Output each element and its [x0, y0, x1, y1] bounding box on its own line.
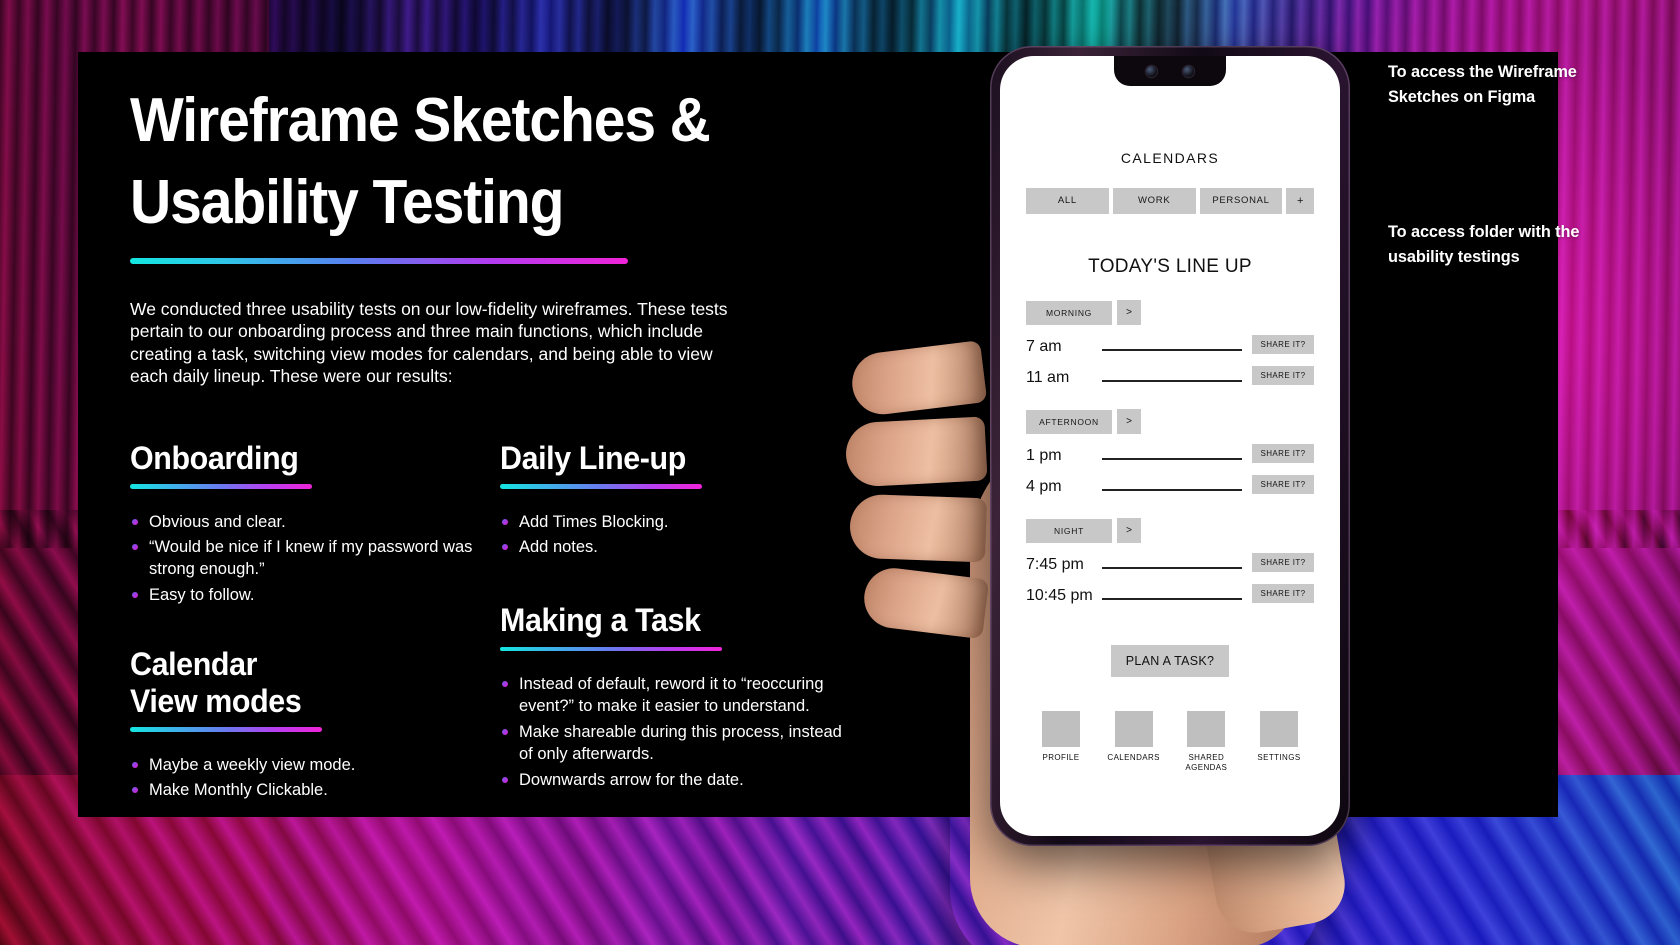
time-slot-row: 11 am SHARE IT? [1026, 366, 1314, 387]
nav-item-calendars[interactable]: CALENDARS [1105, 711, 1163, 773]
nav-label: PROFILE [1032, 753, 1090, 763]
time-slot-row: 7 am SHARE IT? [1026, 335, 1314, 356]
slot-input-line[interactable] [1102, 489, 1242, 491]
calendar-bullet-list: Maybe a weekly view mode. Make Monthly C… [130, 754, 500, 802]
calendar-gradient-rule [130, 727, 322, 732]
onboarding-gradient-rule [130, 484, 312, 489]
section-heading-calendar-line-1: Calendar [130, 646, 482, 683]
share-it-button[interactable]: SHARE IT? [1252, 366, 1314, 385]
bottom-navigation: PROFILE CALENDARS SHARED AGENDAS SETTING… [1026, 711, 1314, 773]
list-item: Add notes. [500, 536, 860, 558]
slot-input-line[interactable] [1102, 349, 1242, 351]
add-calendar-button[interactable]: + [1286, 188, 1314, 214]
slide-content: Wireframe Sketches & Usability Testing W… [130, 80, 890, 805]
right-column: Daily Line-up Add Times Blocking. Add no… [500, 440, 860, 805]
phone-notch [1114, 56, 1226, 86]
tab-work[interactable]: WORK [1113, 188, 1196, 214]
todays-lineup-heading: TODAY'S LINE UP [1026, 256, 1314, 278]
daily-lineup-bullet-list: Add Times Blocking. Add notes. [500, 511, 860, 559]
slot-input-line[interactable] [1102, 458, 1242, 460]
making-a-task-section: Making a Task Instead of default, reword… [500, 602, 860, 791]
nav-label: SHARED AGENDAS [1177, 753, 1235, 773]
phone-screen: CALENDARS ALL WORK PERSONAL + TODAY'S LI… [1000, 56, 1340, 836]
nav-item-shared-agendas[interactable]: SHARED AGENDAS [1177, 711, 1235, 773]
list-item: Obvious and clear. [130, 511, 500, 533]
calendar-tab-row: ALL WORK PERSONAL + [1026, 188, 1314, 214]
time-block-night: NIGHT > 7:45 pm SHARE IT? 10:45 pm SHARE… [1026, 518, 1314, 605]
tab-all[interactable]: ALL [1026, 188, 1109, 214]
making-a-task-bullet-list: Instead of default, reword it to “reoccu… [500, 673, 860, 791]
page-title-line-1: Wireframe Sketches & [130, 80, 829, 162]
time-block-morning: MORNING > 7 am SHARE IT? 11 am SHARE IT? [1026, 300, 1314, 387]
front-camera-icon [1146, 66, 1157, 77]
share-it-button[interactable]: SHARE IT? [1252, 553, 1314, 572]
title-gradient-rule [130, 258, 628, 264]
list-item: Easy to follow. [130, 584, 500, 606]
profile-icon [1042, 711, 1080, 747]
slot-time-label: 1 pm [1026, 447, 1102, 465]
slot-time-label: 7:45 pm [1026, 556, 1102, 574]
settings-icon [1260, 711, 1298, 747]
annotation-figma-link[interactable]: To access the Wireframe Sketches on Figm… [1388, 60, 1628, 109]
slot-input-line[interactable] [1102, 380, 1242, 382]
list-item: “Would be nice if I knew if my password … [130, 536, 500, 581]
morning-header-row: MORNING > [1026, 300, 1314, 325]
time-slot-row: 7:45 pm SHARE IT? [1026, 553, 1314, 574]
slot-time-label: 10:45 pm [1026, 587, 1102, 605]
list-item: Instead of default, reword it to “reoccu… [500, 673, 860, 718]
page-title: Wireframe Sketches & Usability Testing [130, 80, 890, 244]
slot-input-line[interactable] [1102, 567, 1242, 569]
calendars-icon [1115, 711, 1153, 747]
time-slot-row: 10:45 pm SHARE IT? [1026, 584, 1314, 605]
share-it-button[interactable]: SHARE IT? [1252, 475, 1314, 494]
share-it-button[interactable]: SHARE IT? [1252, 335, 1314, 354]
block-label-morning[interactable]: MORNING [1026, 301, 1112, 325]
nav-label: CALENDARS [1105, 753, 1163, 763]
section-heading-making-a-task: Making a Task [500, 602, 842, 639]
chevron-right-icon-afternoon[interactable]: > [1117, 409, 1141, 434]
list-item: Make shareable during this process, inst… [500, 721, 860, 766]
slot-time-label: 4 pm [1026, 478, 1102, 496]
section-heading-daily-lineup: Daily Line-up [500, 440, 842, 477]
block-label-afternoon[interactable]: AFTERNOON [1026, 410, 1112, 434]
section-heading-onboarding: Onboarding [130, 440, 482, 477]
share-it-button[interactable]: SHARE IT? [1252, 584, 1314, 603]
left-column: Onboarding Obvious and clear. “Would be … [130, 440, 500, 805]
onboarding-bullet-list: Obvious and clear. “Would be nice if I k… [130, 511, 500, 607]
afternoon-header-row: AFTERNOON > [1026, 409, 1314, 434]
section-heading-calendar-line-2: View modes [130, 683, 482, 720]
daily-lineup-gradient-rule [500, 484, 702, 489]
plan-a-task-button[interactable]: PLAN A TASK? [1111, 645, 1229, 677]
sections-columns: Onboarding Obvious and clear. “Would be … [130, 440, 890, 805]
page-title-line-2: Usability Testing [130, 162, 829, 244]
time-slot-row: 1 pm SHARE IT? [1026, 444, 1314, 465]
nav-label: SETTINGS [1250, 753, 1308, 763]
nav-item-settings[interactable]: SETTINGS [1250, 711, 1308, 773]
time-slot-row: 4 pm SHARE IT? [1026, 475, 1314, 496]
block-label-night[interactable]: NIGHT [1026, 519, 1112, 543]
time-block-afternoon: AFTERNOON > 1 pm SHARE IT? 4 pm SHARE IT… [1026, 409, 1314, 496]
intro-paragraph: We conducted three usability tests on ou… [130, 298, 750, 388]
slot-input-line[interactable] [1102, 598, 1242, 600]
app-ui: CALENDARS ALL WORK PERSONAL + TODAY'S LI… [1000, 56, 1340, 836]
list-item: Maybe a weekly view mode. [130, 754, 500, 776]
calendars-heading: CALENDARS [1026, 150, 1314, 166]
making-a-task-gradient-rule [500, 647, 722, 652]
nav-item-profile[interactable]: PROFILE [1032, 711, 1090, 773]
list-item: Downwards arrow for the date. [500, 769, 860, 791]
chevron-right-icon-morning[interactable]: > [1117, 300, 1141, 325]
slot-time-label: 7 am [1026, 338, 1102, 356]
shared-agendas-icon [1187, 711, 1225, 747]
night-header-row: NIGHT > [1026, 518, 1314, 543]
share-it-button[interactable]: SHARE IT? [1252, 444, 1314, 463]
calendar-section: Calendar View modes Maybe a weekly view … [130, 646, 500, 802]
list-item: Make Monthly Clickable. [130, 779, 500, 801]
depth-sensor-icon [1183, 66, 1194, 77]
annotation-folder-link[interactable]: To access folder with the usability test… [1388, 220, 1628, 269]
chevron-right-icon-night[interactable]: > [1117, 518, 1141, 543]
list-item: Add Times Blocking. [500, 511, 860, 533]
slot-time-label: 11 am [1026, 369, 1102, 387]
phone-mockup: CALENDARS ALL WORK PERSONAL + TODAY'S LI… [990, 46, 1350, 846]
tab-personal[interactable]: PERSONAL [1200, 188, 1283, 214]
